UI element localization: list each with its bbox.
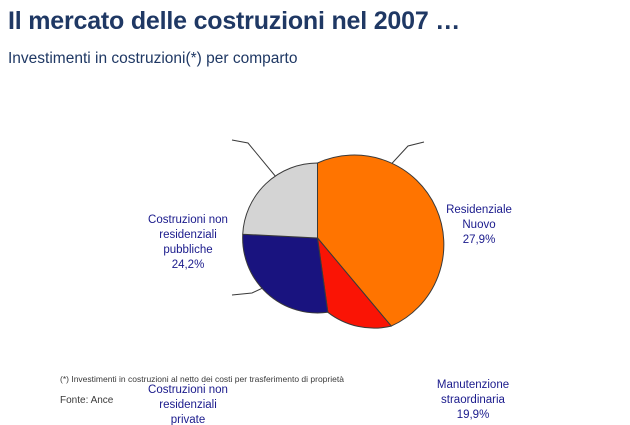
pie-label-line1: Residenziale — [446, 204, 512, 216]
slide: Il mercato delle costruzioni nel 2007 … … — [0, 0, 630, 425]
footnote: (*) Investimenti in costruzioni al netto… — [60, 374, 344, 384]
pie-label-line1: Costruzioni non — [148, 214, 228, 226]
page-subtitle: Investimenti in costruzioni(*) per compa… — [8, 50, 297, 68]
pie-label-manutenzione-straordinaria: Manutenzione straordinaria 19,9% — [408, 378, 538, 423]
pie-label-line2: residenziali — [159, 399, 217, 411]
pie-label-value: 19,9% — [408, 408, 538, 423]
pie-label-line2: Nuovo — [462, 219, 495, 231]
pie-chart-svg — [0, 95, 630, 345]
pie-chart: Costruzioni non residenziali pubbliche 2… — [0, 95, 630, 345]
pie-label-line3: private — [171, 414, 206, 425]
pie-label-non-residenziali-private: Costruzioni non residenziali private 28,… — [118, 383, 258, 425]
pie-label-value: 27,9% — [424, 233, 534, 248]
source-note: Fonte: Ance — [60, 395, 113, 406]
pie-label-line1: Costruzioni non — [148, 384, 228, 396]
page-title: Il mercato delle costruzioni nel 2007 … — [8, 7, 460, 36]
pie-label-line2: residenziali — [159, 229, 217, 241]
pie-label-line3: pubbliche — [163, 244, 212, 256]
pie-label-line1: Manutenzione — [437, 379, 509, 391]
pie-label-value: 24,2% — [118, 258, 258, 273]
pie-label-non-residenziali-pubbliche: Costruzioni non residenziali pubbliche 2… — [118, 213, 258, 273]
pie-label-line2: straordinaria — [441, 394, 505, 406]
pie-label-residenziale-nuovo: Residenziale Nuovo 27,9% — [424, 203, 534, 248]
